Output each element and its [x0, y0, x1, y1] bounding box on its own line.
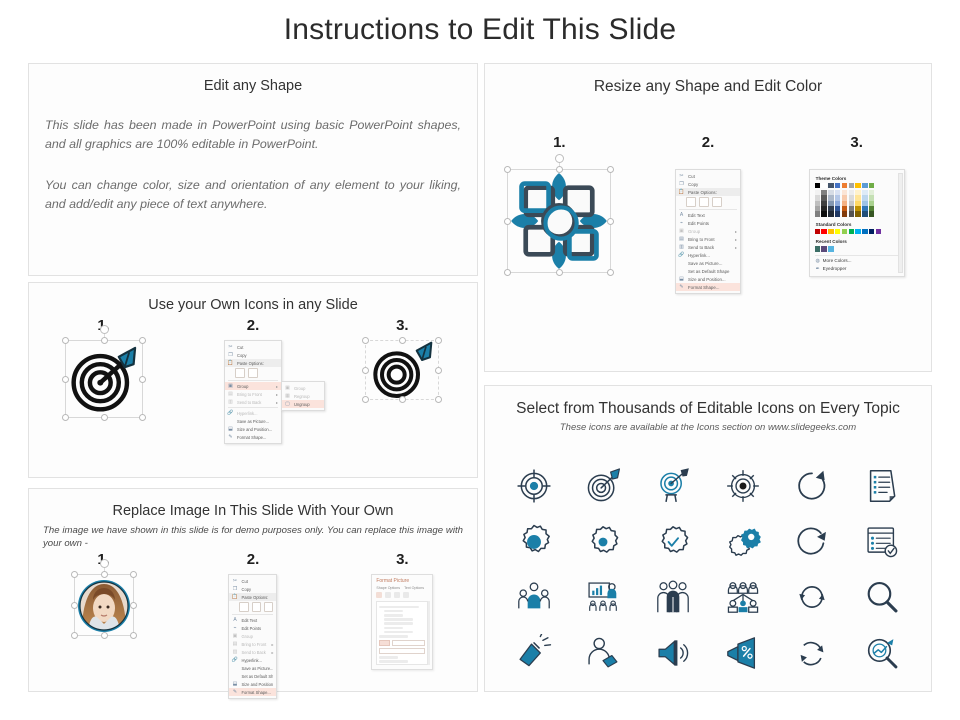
step-number: 2. — [247, 317, 260, 334]
panel-subtitle-editable-icons: These icons are available at the Icons s… — [485, 422, 931, 433]
color-swatch[interactable] — [835, 211, 840, 216]
panel-edit-any-shape: Edit any Shape This slide has been made … — [28, 63, 478, 276]
cut-icon: ✂ — [227, 344, 234, 351]
paste-option-1-button[interactable] — [686, 197, 696, 207]
icon-grid — [499, 458, 917, 681]
theme-tint-column[interactable] — [849, 190, 854, 217]
paste-option-2-button[interactable] — [252, 602, 261, 612]
own-icons-step-1: 1. — [29, 317, 178, 444]
color-swatch[interactable] — [862, 183, 867, 188]
resize-step-3: 3. Theme Colors Standard Colors Recent C… — [782, 134, 931, 294]
replace-image-step-2: 2. ✂Cut ❐Copy 📋Paste Options: AEdit Text… — [178, 551, 327, 699]
color-swatch[interactable] — [869, 229, 874, 234]
group-submenu[interactable]: ▣Group ▦Regroup ▢Ungroup — [281, 381, 325, 411]
slide-canvas: Instructions to Edit This Slide Edit any… — [0, 0, 960, 720]
group-icon: ▣ — [678, 228, 685, 235]
copy-icon: ❐ — [231, 586, 238, 593]
paste-option-buttons[interactable] — [229, 601, 276, 613]
color-swatch[interactable] — [821, 229, 826, 234]
menu-item-paste-options[interactable]: 📋Paste Options: — [225, 359, 281, 367]
theme-tint-column[interactable] — [828, 190, 833, 217]
magnifier-icon[interactable] — [862, 577, 902, 617]
replace-image-step-3: 3. Format Picture Shape Options Text Opt… — [328, 551, 477, 699]
color-swatch[interactable] — [828, 246, 833, 251]
step-number: 3. — [850, 134, 863, 151]
replace-image-step-1: 1. — [29, 551, 178, 699]
theme-tint-column[interactable] — [821, 190, 826, 217]
step-number: 2. — [702, 134, 715, 151]
theme-tint-column[interactable] — [862, 190, 867, 217]
color-swatch[interactable] — [815, 246, 820, 251]
bring-front-icon: ▤ — [227, 391, 234, 398]
menu-item-format-shape[interactable]: ✎Format Shape... — [225, 433, 281, 441]
menu-item-edit-text[interactable]: AEdit Text — [229, 616, 276, 624]
menu-item-send-to-back[interactable]: ▥Send to Back▸ — [229, 648, 276, 656]
copy-icon: ❐ — [227, 352, 234, 359]
menu-item-cut[interactable]: ✂Cut — [229, 577, 276, 585]
step-artwork: Format Picture Shape Options Text Option… — [371, 574, 433, 670]
menu-item-edit-points[interactable]: ⌁Edit Points — [676, 219, 740, 227]
menu-item-send-to-back[interactable]: ▥Send to Back▸ — [676, 243, 740, 251]
own-icons-step-2: 2. ✂Cut ❐Copy 📋Paste Options: ▣Group▸ ▤B… — [178, 317, 327, 444]
own-icons-step-3: 3. — [328, 317, 477, 444]
selected-photo[interactable] — [74, 574, 134, 636]
send-back-icon: ▥ — [231, 649, 238, 656]
menu-item-save-as-picture[interactable]: Save as Picture... — [229, 664, 276, 672]
menu-item-set-as-default-shape[interactable]: Set as Default Shape — [229, 672, 276, 680]
color-swatch[interactable] — [862, 229, 867, 234]
color-swatch[interactable] — [855, 229, 860, 234]
paste-icon: 📋 — [678, 189, 685, 196]
color-swatch[interactable] — [815, 211, 820, 216]
format-shape-icon: ✎ — [231, 689, 238, 696]
format-pane-title: Format Picture — [376, 578, 428, 584]
refresh-circle-icon[interactable] — [792, 522, 832, 562]
paste-option-1-button[interactable] — [239, 602, 248, 612]
menu-item-bring-to-front[interactable]: ▤Bring to Front▸ — [225, 390, 281, 398]
panel-editable-icons: Select from Thousands of Editable Icons … — [484, 385, 932, 692]
submenu-item-regroup[interactable]: ▦Regroup — [282, 392, 324, 400]
menu-item-copy[interactable]: ❐Copy — [676, 180, 740, 188]
fill-icon[interactable] — [376, 592, 382, 598]
menu-item-paste-options[interactable]: 📋Paste Options: — [676, 188, 740, 196]
theme-tint-column[interactable] — [835, 190, 840, 217]
selected-target-icon[interactable] — [65, 340, 143, 418]
group-icon: ▣ — [231, 633, 238, 640]
page-title: Instructions to Edit This Slide — [0, 13, 960, 47]
size-icon[interactable] — [394, 592, 400, 598]
group-icon: ▣ — [227, 383, 234, 390]
effects-icon[interactable] — [385, 592, 391, 598]
color-swatch[interactable] — [835, 183, 840, 188]
menu-item-save-as-picture[interactable]: Save as Picture... — [225, 417, 281, 425]
panel-title-editable-icons: Select from Thousands of Editable Icons … — [485, 400, 931, 418]
menu-item-save-as-picture[interactable]: Save as Picture... — [676, 259, 740, 267]
menu-item-group[interactable]: ▣Group▸ — [676, 227, 740, 235]
hyperlink-icon: 🔗 — [231, 657, 238, 664]
color-swatch[interactable] — [828, 229, 833, 234]
color-swatch[interactable] — [869, 211, 874, 216]
people-three-icon[interactable] — [653, 577, 693, 617]
gear-solid-icon[interactable] — [514, 522, 554, 562]
menu-item-hyperlink[interactable]: 🔗Hyperlink... — [225, 409, 281, 417]
paste-picture-button[interactable] — [248, 368, 258, 378]
menu-item-edit-text[interactable]: AEdit Text — [676, 211, 740, 219]
send-back-icon: ▥ — [227, 399, 234, 406]
recent-colors-row[interactable] — [815, 246, 899, 251]
menu-item-size-and-position[interactable]: ⬓Size and Position... — [229, 680, 276, 688]
team-network-icon[interactable] — [723, 577, 763, 617]
gear-check-icon[interactable] — [653, 522, 693, 562]
color-swatch[interactable] — [815, 229, 820, 234]
megaphone-percent-icon[interactable] — [723, 633, 763, 673]
paste-keep-formatting-button[interactable] — [235, 368, 245, 378]
checklist-approved-icon[interactable] — [862, 522, 902, 562]
menu-item-copy[interactable]: ❐Copy — [225, 351, 281, 359]
group-icon: ▣ — [284, 385, 291, 392]
cut-icon: ✂ — [678, 173, 685, 180]
menu-item-hyperlink[interactable]: 🔗Hyperlink... — [229, 656, 276, 664]
submenu-item-group[interactable]: ▣Group — [282, 384, 324, 392]
menu-item-group[interactable]: ▣Group — [229, 632, 276, 640]
color-swatch[interactable] — [835, 229, 840, 234]
menu-item-format-shape[interactable]: ✎Format Shape... — [229, 688, 276, 696]
edit-shape-paragraph-2: You can change color, size and orientati… — [45, 176, 461, 214]
standard-colors-row[interactable] — [815, 229, 899, 234]
color-chip[interactable] — [379, 640, 390, 646]
edit-text-icon: A — [678, 212, 685, 219]
menu-item-bring-to-front[interactable]: ▤Bring to Front▸ — [229, 640, 276, 648]
edit-shape-paragraph-1: This slide has been made in PowerPoint u… — [45, 116, 461, 154]
submenu-item-ungroup[interactable]: ▢Ungroup — [282, 400, 324, 408]
menu-item-group[interactable]: ▣Group▸ — [225, 382, 281, 390]
color-swatch[interactable] — [842, 211, 847, 216]
color-swatch[interactable] — [855, 183, 860, 188]
theme-tint-column[interactable] — [855, 190, 860, 217]
color-swatch[interactable] — [821, 246, 826, 251]
edit-points-icon: ⌁ — [231, 625, 238, 632]
resize-step-1: 1. — [485, 134, 634, 294]
paste-icon: 📋 — [231, 594, 238, 601]
size-position-icon: ⬓ — [227, 426, 234, 433]
panel-title-edit-any-shape: Edit any Shape — [29, 78, 477, 94]
cut-icon: ✂ — [231, 578, 238, 585]
ungrouped-target-icon[interactable] — [365, 340, 439, 400]
color-swatch[interactable] — [842, 229, 847, 234]
ungroup-icon: ▢ — [284, 401, 291, 408]
theme-tint-column[interactable] — [869, 190, 874, 217]
step-artwork: ✂Cut ❐Copy 📋Paste Options: AEdit Text ⌁E… — [675, 169, 741, 294]
bring-front-icon: ▤ — [231, 641, 238, 648]
resize-step-2: 2. ✂Cut ❐Copy 📋Paste Options: AEdit Text… — [634, 134, 783, 294]
recent-colors-label: Recent Colors — [816, 239, 899, 244]
menu-item-bring-to-front[interactable]: ▤Bring to Front▸ — [676, 235, 740, 243]
color-swatch[interactable] — [842, 183, 847, 188]
panel-replace-image: Replace Image In This Slide With Your Ow… — [28, 488, 478, 692]
gears-duo-icon[interactable] — [723, 522, 763, 562]
step-artwork — [74, 574, 134, 636]
team-group-icon[interactable] — [514, 577, 554, 617]
tab-shape-options[interactable]: Shape Options — [376, 586, 400, 590]
send-back-icon: ▥ — [678, 244, 685, 251]
color-swatch[interactable] — [821, 211, 826, 216]
person-announce-icon[interactable] — [583, 633, 623, 673]
edit-points-icon: ⌁ — [678, 220, 685, 227]
color-swatch[interactable] — [828, 211, 833, 216]
presentation-audience-icon[interactable] — [583, 577, 623, 617]
menu-item-format-shape[interactable]: ✎Format Shape... — [676, 283, 740, 291]
more-colors-item[interactable]: ◍More Colors... — [815, 258, 899, 264]
standard-colors-label: Standard Colors — [816, 222, 899, 227]
color-swatch[interactable] — [862, 211, 867, 216]
document-list-icon[interactable] — [862, 466, 902, 506]
eyedropper-item[interactable]: ✒Eyedropper — [815, 266, 899, 272]
color-swatch[interactable] — [849, 183, 854, 188]
color-swatch[interactable] — [869, 183, 874, 188]
format-shape-icon: ✎ — [227, 434, 234, 441]
replace-image-note: The image we have shown in this slide is… — [43, 524, 463, 550]
menu-item-send-to-back[interactable]: ▥Send to Back▸ — [225, 398, 281, 406]
format-pane-toolbar[interactable] — [376, 592, 428, 598]
selected-resizable-shape[interactable] — [507, 169, 611, 273]
megaphone-icon[interactable] — [514, 633, 554, 673]
menu-item-hyperlink[interactable]: 🔗Hyperlink... — [676, 251, 740, 259]
menu-item-paste-options[interactable]: 📋Paste Options: — [229, 593, 276, 601]
menu-item-edit-points[interactable]: ⌁Edit Points — [229, 624, 276, 632]
theme-tint-column[interactable] — [842, 190, 847, 217]
step-artwork — [65, 340, 143, 418]
color-picker-dropdown[interactable]: Theme Colors Standard Colors Recent Colo… — [809, 169, 905, 277]
menu-item-cut[interactable]: ✂Cut — [225, 343, 281, 351]
panel-title-replace-image: Replace Image In This Slide With Your Ow… — [29, 503, 477, 519]
loudspeaker-icon[interactable] — [653, 633, 693, 673]
theme-tints-grid[interactable] — [815, 190, 899, 217]
color-swatch[interactable] — [828, 183, 833, 188]
target-arrow-icon[interactable] — [583, 466, 623, 506]
format-shape-icon: ✎ — [678, 284, 685, 291]
size-position-icon: ⬓ — [231, 681, 238, 688]
step-artwork: Theme Colors Standard Colors Recent Colo… — [809, 169, 905, 277]
palette-scrollbar[interactable] — [898, 173, 903, 273]
edit-text-icon: A — [231, 617, 238, 624]
step-artwork: ✂Cut ❐Copy 📋Paste Options: AEdit Text ⌁E… — [228, 574, 277, 699]
color-swatch[interactable] — [876, 229, 881, 234]
target-analysis-icon[interactable] — [862, 633, 902, 673]
format-pane-options[interactable] — [376, 601, 428, 665]
theme-tint-column[interactable] — [815, 190, 820, 217]
step-artwork — [365, 340, 439, 400]
picture-icon[interactable] — [403, 592, 409, 598]
hyperlink-icon: 🔗 — [227, 410, 234, 417]
panel-use-own-icons: Use your Own Icons in any Slide 1. — [28, 282, 478, 478]
tab-text-options[interactable]: Text Options — [404, 586, 424, 590]
size-position-icon: ⬓ — [678, 276, 685, 283]
color-swatch[interactable] — [855, 211, 860, 216]
hyperlink-icon: 🔗 — [678, 252, 685, 259]
palette-icon: ◍ — [815, 258, 821, 264]
refresh-clockwise-icon[interactable] — [792, 466, 832, 506]
menu-item-size-and-position[interactable]: ⬓Size and Position... — [676, 275, 740, 283]
paste-option-buttons[interactable] — [676, 196, 740, 208]
step-number: 2. — [247, 551, 260, 568]
color-swatch[interactable] — [815, 183, 820, 188]
copy-icon: ❐ — [678, 181, 685, 188]
menu-item-cut[interactable]: ✂Cut — [676, 172, 740, 180]
theme-colors-row[interactable] — [815, 183, 899, 188]
panel-title-resize-shape: Resize any Shape and Edit Color — [485, 78, 931, 96]
gear-small-icon[interactable] — [583, 522, 623, 562]
color-swatch[interactable] — [849, 229, 854, 234]
context-menu[interactable]: ✂Cut ❐Copy 📋Paste Options: AEdit Text ⌁E… — [228, 574, 277, 699]
crosshair-target-icon[interactable] — [723, 466, 763, 506]
step-artwork — [507, 169, 611, 273]
panel-resize-shape-edit-color: Resize any Shape and Edit Color 1. — [484, 63, 932, 372]
eyedropper-icon: ✒ — [815, 266, 821, 272]
step-number: 3. — [396, 317, 409, 334]
theme-colors-label: Theme Colors — [816, 176, 899, 181]
cycle-arrows-icon[interactable] — [792, 633, 832, 673]
menu-item-set-as-default-shape[interactable]: Set as Default Shape — [676, 267, 740, 275]
color-swatch[interactable] — [849, 211, 854, 216]
panel-title-use-own-icons: Use your Own Icons in any Slide — [29, 297, 477, 313]
paste-icon: 📋 — [227, 360, 234, 367]
paste-option-buttons[interactable] — [225, 367, 281, 379]
paste-option-3-button[interactable] — [264, 602, 273, 612]
step-number: 3. — [396, 551, 409, 568]
regroup-icon: ▦ — [284, 393, 291, 400]
step-artwork: ✂Cut ❐Copy 📋Paste Options: ▣Group▸ ▤Brin… — [224, 340, 282, 444]
sync-arrows-icon[interactable] — [792, 577, 832, 617]
context-menu[interactable]: ✂Cut ❐Copy 📋Paste Options: AEdit Text ⌁E… — [675, 169, 741, 294]
bring-front-icon: ▤ — [678, 236, 685, 243]
format-picture-pane[interactable]: Format Picture Shape Options Text Option… — [371, 574, 433, 670]
menu-item-size-and-position[interactable]: ⬓Size and Position... — [225, 425, 281, 433]
paste-option-2-button[interactable] — [699, 197, 709, 207]
context-menu[interactable]: ✂Cut ❐Copy 📋Paste Options: ▣Group▸ ▤Brin… — [224, 340, 282, 444]
color-swatch[interactable] — [821, 183, 826, 188]
target-stand-icon[interactable] — [653, 466, 693, 506]
step-number: 1. — [553, 134, 566, 151]
paste-option-3-button[interactable] — [712, 197, 722, 207]
target-crosshair-icon[interactable] — [514, 466, 554, 506]
menu-item-copy[interactable]: ❐Copy — [229, 585, 276, 593]
